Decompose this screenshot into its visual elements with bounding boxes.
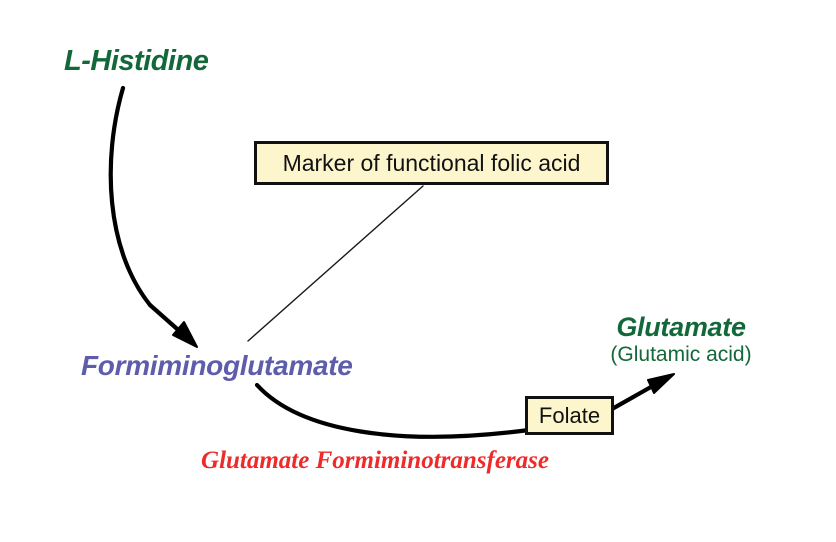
arrow-folate-to-glutamate — [612, 374, 674, 409]
enzyme-label-glutamate-formiminotransferase: Glutamate Formiminotransferase — [0, 447, 750, 475]
arrow-histidine-to-figlu — [111, 88, 197, 347]
node-sublabel-glutamic-acid: (Glutamic acid) — [561, 343, 801, 367]
annotation-box-folate: Folate — [525, 396, 614, 435]
leader-line-marker-to-figlu — [248, 186, 423, 341]
node-group-glutamate: Glutamate (Glutamic acid) — [561, 313, 801, 367]
pathway-diagram: L-Histidine Formiminoglutamate Glutamate… — [0, 0, 836, 542]
arrow-figlu-to-folate — [257, 385, 529, 437]
annotation-box-folic-acid-marker: Marker of functional folic acid — [254, 141, 609, 185]
node-label-formiminoglutamate: Formiminoglutamate — [81, 352, 353, 380]
node-label-glutamate: Glutamate — [561, 313, 801, 341]
node-label-histidine: L-Histidine — [64, 47, 208, 76]
